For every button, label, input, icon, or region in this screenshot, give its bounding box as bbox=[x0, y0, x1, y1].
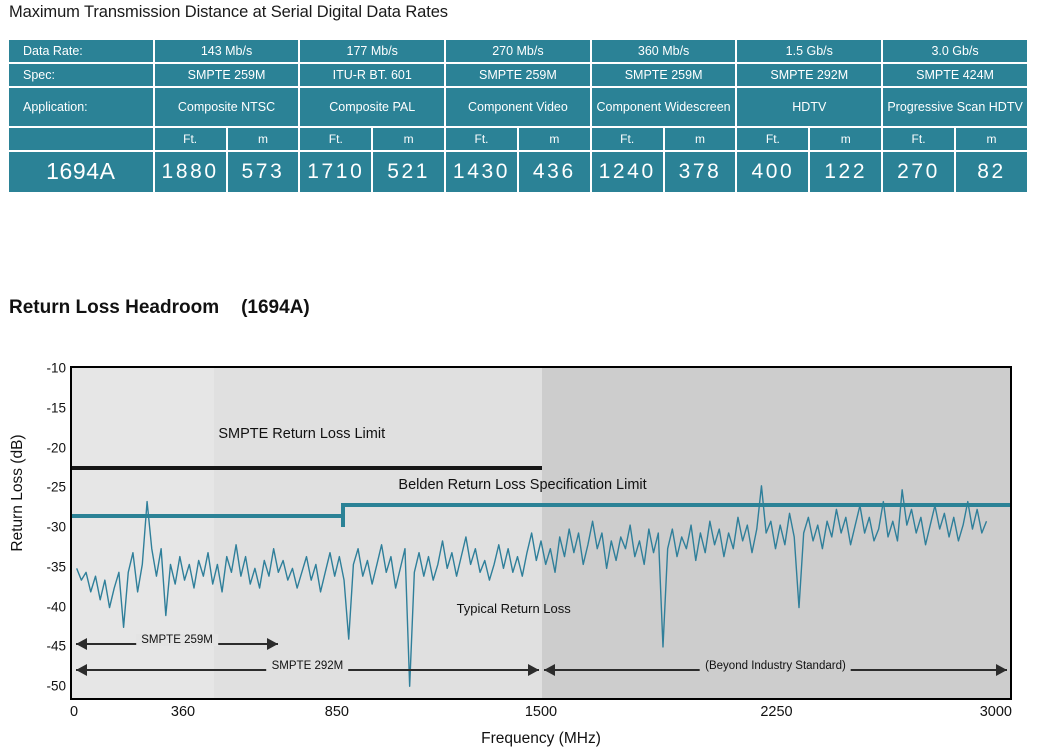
table-row-data-rate: Data Rate: 143 Mb/s 177 Mb/s 270 Mb/s 36… bbox=[9, 40, 1027, 62]
cell-unit-ft-5: Ft. bbox=[883, 128, 954, 150]
cell-data-rate-3: 360 Mb/s bbox=[592, 40, 736, 62]
cell-ft-3: 1240 bbox=[592, 152, 663, 192]
beyond-industry-standard-range-marker: (Beyond Industry Standard) bbox=[544, 663, 1007, 677]
x-axis-ticks: 0360850150022503000 bbox=[70, 704, 1012, 728]
cell-data-rate-2: 270 Mb/s bbox=[446, 40, 590, 62]
chart-title-model: (1694A) bbox=[241, 297, 310, 318]
cell-unit-m-1: m bbox=[373, 128, 444, 150]
cell-unit-ft-4: Ft. bbox=[737, 128, 808, 150]
x-tick-label: 3000 bbox=[980, 704, 1012, 720]
return-loss-chart: -10-15-20-25-30-35-40-45-50 Return Loss … bbox=[0, 348, 1043, 756]
cell-units-blank bbox=[9, 128, 153, 150]
transmission-distance-table: Data Rate: 143 Mb/s 177 Mb/s 270 Mb/s 36… bbox=[7, 38, 1029, 194]
cell-data-rate-5: 3.0 Gb/s bbox=[883, 40, 1027, 62]
cell-spec-3: SMPTE 259M bbox=[592, 64, 736, 86]
cell-ft-4: 400 bbox=[737, 152, 808, 192]
cell-application-3: Component Widescreen bbox=[592, 88, 736, 126]
cell-ft-5: 270 bbox=[883, 152, 954, 192]
y-tick-label: -10 bbox=[2, 361, 66, 376]
range-label: (Beyond Industry Standard) bbox=[700, 660, 851, 672]
row-label-spec: Spec: bbox=[9, 64, 153, 86]
cell-ft-0: 1880 bbox=[155, 152, 226, 192]
row-label-data-rate: Data Rate: bbox=[9, 40, 153, 62]
cell-unit-m-0: m bbox=[228, 128, 299, 150]
typical-return-loss-label: Typical Return Loss bbox=[457, 601, 571, 616]
cell-spec-2: SMPTE 259M bbox=[446, 64, 590, 86]
cell-data-rate-0: 143 Mb/s bbox=[155, 40, 299, 62]
x-tick-label: 850 bbox=[325, 704, 349, 720]
cell-m-0: 573 bbox=[228, 152, 299, 192]
x-tick-label: 1500 bbox=[525, 704, 557, 720]
x-axis-title: Frequency (MHz) bbox=[70, 730, 1012, 748]
arrow-right-icon bbox=[267, 638, 278, 650]
belden-limit-label: Belden Return Loss Specification Limit bbox=[398, 477, 646, 493]
y-tick-label: -45 bbox=[2, 639, 66, 654]
cell-m-5: 82 bbox=[956, 152, 1027, 192]
range-label: SMPTE 292M bbox=[267, 660, 349, 672]
cell-unit-m-5: m bbox=[956, 128, 1027, 150]
cell-application-5: Progressive Scan HDTV bbox=[883, 88, 1027, 126]
belden-limit-line-segment-1 bbox=[72, 514, 341, 518]
cell-m-3: 378 bbox=[665, 152, 736, 192]
row-label-application: Application: bbox=[9, 88, 153, 126]
plot-area: SMPTE Return Loss Limit Belden Return Lo… bbox=[70, 366, 1012, 700]
table-row-spec: Spec: SMPTE 259M ITU-R BT. 601 SMPTE 259… bbox=[9, 64, 1027, 86]
arrow-right-icon bbox=[528, 664, 539, 676]
chart-title: Return Loss Headroom(1694A) bbox=[9, 297, 310, 319]
cell-ft-2: 1430 bbox=[446, 152, 517, 192]
smpte-292m-range-marker: SMPTE 292M bbox=[76, 663, 539, 677]
x-tick-label: 360 bbox=[171, 704, 195, 720]
table-row-application: Application: Composite NTSC Composite PA… bbox=[9, 88, 1027, 126]
arrow-right-icon bbox=[996, 664, 1007, 676]
cell-data-rate-1: 177 Mb/s bbox=[300, 40, 444, 62]
smpte-limit-label: SMPTE Return Loss Limit bbox=[218, 426, 385, 442]
cell-unit-m-2: m bbox=[519, 128, 590, 150]
belden-limit-line-riser bbox=[341, 503, 345, 527]
cell-unit-m-3: m bbox=[665, 128, 736, 150]
smpte-return-loss-limit-line bbox=[72, 466, 542, 470]
y-axis-title: Return Loss (dB) bbox=[9, 383, 27, 603]
smpte-259m-range-marker: SMPTE 259M bbox=[76, 637, 279, 651]
y-tick-label: -50 bbox=[2, 679, 66, 694]
cell-spec-1: ITU-R BT. 601 bbox=[300, 64, 444, 86]
cell-unit-ft-1: Ft. bbox=[300, 128, 371, 150]
x-tick-label: 2250 bbox=[760, 704, 792, 720]
cell-m-1: 521 bbox=[373, 152, 444, 192]
cell-spec-0: SMPTE 259M bbox=[155, 64, 299, 86]
cell-unit-ft-0: Ft. bbox=[155, 128, 226, 150]
table-title: Maximum Transmission Distance at Serial … bbox=[9, 3, 448, 22]
cell-data-rate-4: 1.5 Gb/s bbox=[737, 40, 881, 62]
cell-application-2: Component Video bbox=[446, 88, 590, 126]
range-label: SMPTE 259M bbox=[136, 634, 218, 646]
x-tick-label: 0 bbox=[70, 704, 78, 720]
cell-m-2: 436 bbox=[519, 152, 590, 192]
cell-m-4: 122 bbox=[810, 152, 881, 192]
cell-application-0: Composite NTSC bbox=[155, 88, 299, 126]
cell-unit-ft-2: Ft. bbox=[446, 128, 517, 150]
cell-ft-1: 1710 bbox=[300, 152, 371, 192]
table-row-values: 1694A 1880 573 1710 521 1430 436 1240 37… bbox=[9, 152, 1027, 192]
cell-spec-5: SMPTE 424M bbox=[883, 64, 1027, 86]
cell-application-4: HDTV bbox=[737, 88, 881, 126]
arrow-left-icon bbox=[544, 664, 555, 676]
belden-limit-line-segment-2 bbox=[341, 503, 1010, 507]
arrow-left-icon bbox=[76, 664, 87, 676]
cell-model-1694a: 1694A bbox=[9, 152, 153, 192]
cell-unit-ft-3: Ft. bbox=[592, 128, 663, 150]
table-row-units: Ft. m Ft. m Ft. m Ft. m Ft. m Ft. m bbox=[9, 128, 1027, 150]
chart-title-text: Return Loss Headroom bbox=[9, 297, 219, 318]
cell-unit-m-4: m bbox=[810, 128, 881, 150]
cell-spec-4: SMPTE 292M bbox=[737, 64, 881, 86]
arrow-left-icon bbox=[76, 638, 87, 650]
cell-application-1: Composite PAL bbox=[300, 88, 444, 126]
